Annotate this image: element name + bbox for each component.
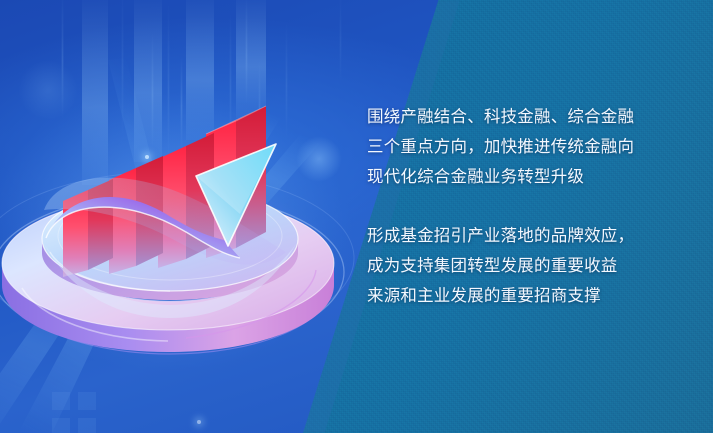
banner-stage: 围绕产融结合、科技金融、综合金融 三个重点方向，加快推进传统金融向 现代化综合金… [0, 0, 713, 433]
paragraph-outcome-line-2: 成为支持集团转型发展的重要收益 [367, 251, 687, 281]
paragraph-strategy-line-3: 现代化综合金融业务转型升级 [367, 162, 687, 192]
paragraph-outcome-line-1: 形成基金招引产业落地的品牌效应， [367, 221, 687, 251]
paragraph-strategy: 围绕产融结合、科技金融、综合金融 三个重点方向，加快推进传统金融向 现代化综合金… [367, 102, 687, 192]
paragraph-strategy-line-1: 围绕产融结合、科技金融、综合金融 [367, 102, 687, 132]
growth-chart-illustration [0, 0, 360, 433]
copy-block: 围绕产融结合、科技金融、综合金融 三个重点方向，加快推进传统金融向 现代化综合金… [367, 102, 687, 311]
paragraph-outcome-line-3: 来源和主业发展的重要招商支撑 [367, 281, 687, 311]
paragraph-outcome: 形成基金招引产业落地的品牌效应， 成为支持集团转型发展的重要收益 来源和主业发展… [367, 221, 687, 311]
paragraph-strategy-line-2: 三个重点方向，加快推进传统金融向 [367, 132, 687, 162]
